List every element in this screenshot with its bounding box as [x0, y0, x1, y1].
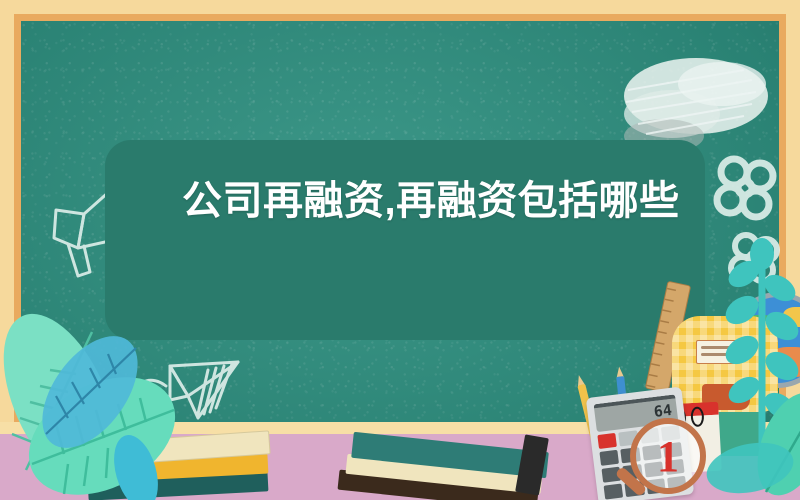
- leaf-illustration: [96, 430, 176, 500]
- banner-canvas: 公司再融资,再融资包括哪些: [0, 0, 800, 500]
- page-title: 公司再融资,再融资包括哪些: [182, 172, 682, 230]
- leaf-illustration: [700, 420, 800, 500]
- flower-chalk-doodle-icon: [706, 150, 784, 228]
- magnifier-number: 1: [630, 418, 706, 494]
- title-panel: [105, 140, 705, 340]
